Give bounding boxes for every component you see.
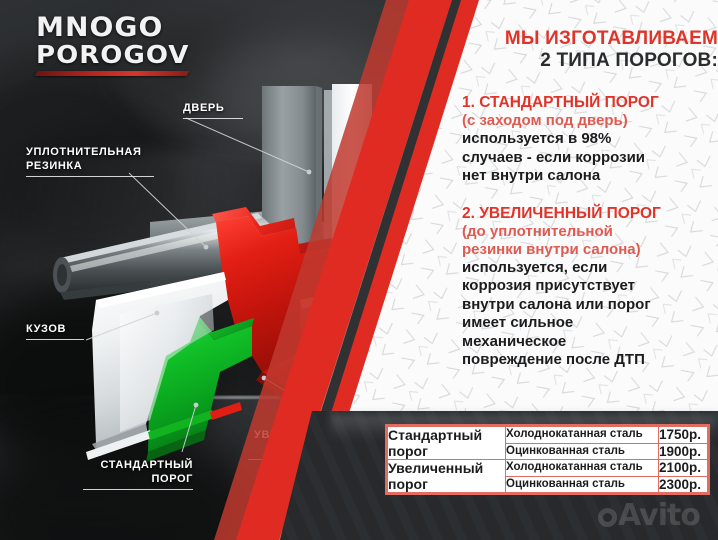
block-extended-title: 2. УВЕЛИЧЕННЫЙ ПОРОГ xyxy=(462,205,718,223)
cell-steel: Холоднокатанная сталь xyxy=(506,427,659,444)
block-extended-body-line2: коррозия присутствует xyxy=(462,277,718,296)
block-extended-body-line5: механическое xyxy=(462,333,718,352)
cell-steel: Оцинкованная сталь xyxy=(506,476,659,493)
cell-steel: Оцинкованная сталь xyxy=(506,443,659,460)
row-type-extended-line1: Увеличенный xyxy=(388,460,505,476)
block-extended-body-line3: внутри салона или порог xyxy=(462,296,718,315)
row-type-extended-line2: порог xyxy=(388,476,505,492)
block-extended-subtitle-line1: (до уплотнительной xyxy=(462,223,718,241)
price-table: Стандартный порог Холоднокатанная сталь … xyxy=(385,424,710,495)
table-row: Увеличенный порог Холоднокатанная сталь … xyxy=(388,460,708,477)
row-type-standard: Стандартный порог xyxy=(388,427,506,460)
info-copy: МЫ ИЗГОТАВЛИВАЕМ 2 ТИПА ПОРОГОВ: 1. СТАН… xyxy=(462,0,718,370)
block-standard-body-line1: используется в 98% xyxy=(462,130,718,149)
promo-banner: MNOGO POROGOV ДВЕРЬ УПЛОТНИТЕЛЬНАЯ РЕЗИН… xyxy=(0,0,718,540)
row-type-standard-line1: Стандартный xyxy=(388,427,505,443)
headline-line2: 2 ТИПА ПОРОГОВ: xyxy=(462,50,718,72)
block-extended-body-line6: повреждение после ДТП xyxy=(462,351,718,370)
block-extended-body-line4: имеет сильное xyxy=(462,314,718,333)
cell-steel: Холоднокатанная сталь xyxy=(506,460,659,477)
cell-price: 2300р. xyxy=(659,476,708,493)
cell-price: 1750р. xyxy=(659,427,708,444)
block-extended-subtitle-line2: резинки внутри салона) xyxy=(462,241,718,259)
block-standard-body-line2: случаев - если коррозии xyxy=(462,149,718,168)
block-standard: 1. СТАНДАРТНЫЙ ПОРОГ (с заходом под двер… xyxy=(462,94,718,186)
block-extended: 2. УВЕЛИЧЕННЫЙ ПОРОГ (до уплотнительной … xyxy=(462,205,718,370)
block-extended-body-line1: используется, если xyxy=(462,259,718,278)
row-type-standard-line2: порог xyxy=(388,443,505,459)
cell-price: 2100р. xyxy=(659,460,708,477)
block-standard-title: 1. СТАНДАРТНЫЙ ПОРОГ xyxy=(462,94,718,112)
row-type-extended: Увеличенный порог xyxy=(388,460,506,493)
block-standard-body-line3: нет внутри салона xyxy=(462,167,718,186)
headline-line1: МЫ ИЗГОТАВЛИВАЕМ xyxy=(462,28,718,50)
table-row: Стандартный порог Холоднокатанная сталь … xyxy=(388,427,708,444)
cell-price: 1900р. xyxy=(659,443,708,460)
block-standard-subtitle: (с заходом под дверь) xyxy=(462,112,718,130)
